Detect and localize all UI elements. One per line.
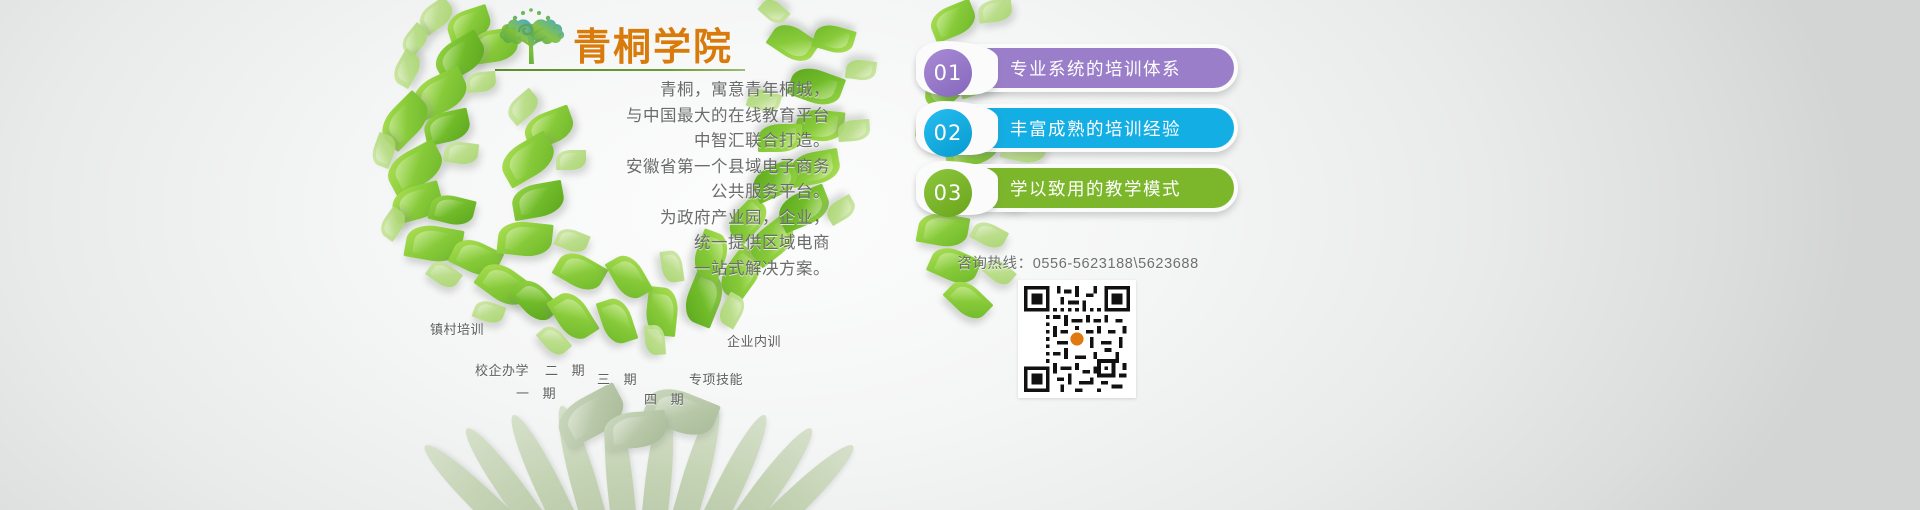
intro-line: 一站式解决方案。 bbox=[430, 257, 830, 283]
feature-number: 01 bbox=[924, 49, 972, 97]
feature-item-03[interactable]: 03 学以致用的教学模式 bbox=[918, 164, 1238, 212]
program-label-qiye: 企业内训 bbox=[727, 331, 781, 350]
feature-item-01[interactable]: 01 专业系统的培训体系 bbox=[918, 44, 1238, 92]
qr-code[interactable] bbox=[1018, 280, 1136, 398]
leaf bbox=[837, 119, 870, 142]
brand-divider bbox=[495, 69, 745, 71]
program-label-phase-4: 四 期 bbox=[644, 389, 689, 408]
tree-icon bbox=[495, 8, 567, 66]
feature-number: 02 bbox=[924, 109, 972, 157]
intro-line: 青桐，寓意青年桐城， bbox=[430, 78, 830, 104]
qr-code-image bbox=[1024, 286, 1130, 392]
feature-list: 01 专业系统的培训体系 02 丰富成熟的培训经验 03 学以致用的教学模式 bbox=[918, 44, 1238, 224]
intro-line: 与中国最大的在线教育平台 bbox=[430, 104, 830, 130]
intro-line: 公共服务平台。 bbox=[430, 180, 830, 206]
leaf bbox=[389, 49, 425, 89]
program-label-phase-2: 二 期 bbox=[545, 360, 590, 379]
leaf bbox=[811, 21, 857, 57]
hotline-text: 咨询热线：0556-5623188\5623688 bbox=[918, 252, 1238, 273]
intro-line: 统一提供区域电商 bbox=[430, 231, 830, 257]
program-label-phase-3: 三 期 bbox=[597, 369, 642, 388]
intro-line: 安徽省第一个县域电子商务 bbox=[430, 155, 830, 181]
brand-logo: 青桐学院 bbox=[495, 6, 750, 71]
leaf bbox=[926, 0, 980, 44]
feature-label: 学以致用的教学模式 bbox=[1010, 164, 1224, 212]
feature-label: 专业系统的培训体系 bbox=[1010, 44, 1224, 92]
leaf bbox=[942, 275, 993, 326]
feature-number: 03 bbox=[924, 169, 972, 217]
leaf bbox=[596, 294, 639, 347]
intro-paragraph: 青桐，寓意青年桐城， 与中国最大的在线教育平台 中智汇联合打造。 安徽省第一个县… bbox=[430, 78, 830, 282]
intro-line: 为政府产业园，企业， bbox=[430, 206, 830, 232]
brand-title: 青桐学院 bbox=[573, 28, 733, 66]
leaf bbox=[845, 58, 877, 82]
intro-line: 中智汇联合打造。 bbox=[430, 129, 830, 155]
program-label-xiaoqi: 校企办学 bbox=[475, 360, 529, 379]
program-label-zhencun: 镇村培训 bbox=[430, 319, 484, 338]
banner-stage: 青桐学院 青桐，寓意青年桐城， 与中国最大的在线教育平台 中智汇联合打造。 安徽… bbox=[0, 0, 1920, 510]
leaf bbox=[977, 0, 1013, 24]
program-label-phase-1: 一 期 bbox=[516, 383, 561, 402]
feature-item-02[interactable]: 02 丰富成熟的培训经验 bbox=[918, 104, 1238, 152]
program-label-zhuanxiang: 专项技能 bbox=[689, 369, 743, 388]
feature-label: 丰富成熟的培训经验 bbox=[1010, 104, 1224, 152]
